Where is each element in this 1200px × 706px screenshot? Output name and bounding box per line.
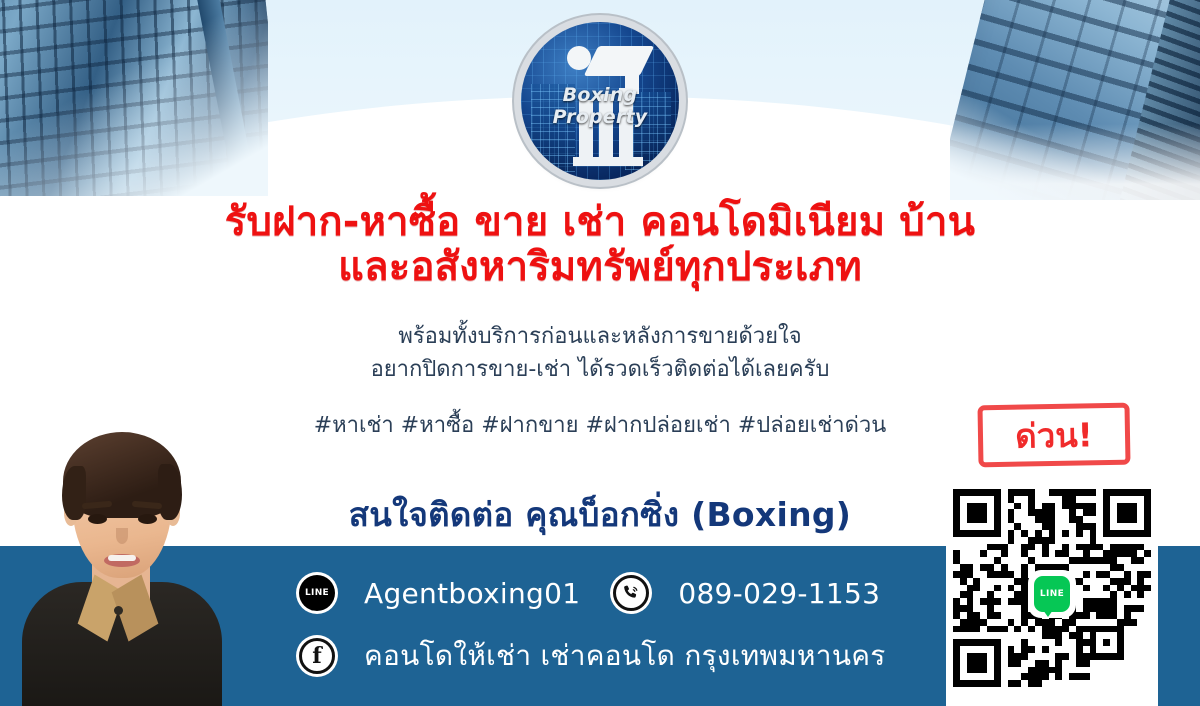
line-qr-code[interactable]: LINE [946, 482, 1158, 706]
contact-row-line-phone: LINE Agentboxing01 089-029-1153 [296, 572, 880, 614]
phone-number-label[interactable]: 089-029-1153 [678, 577, 880, 610]
logo-base-icon [573, 157, 643, 166]
headline-line-1: รับฝาก-หาซื้อ ขาย เช่า คอนโดมิเนียม บ้าน [225, 199, 975, 245]
agent-hair-side-left [62, 466, 86, 520]
headline-line-2: และอสังหาริมทรัพย์ทุกประเภท [0, 245, 1200, 290]
promo-poster: Boxing Property รับฝาก-หาซื้อ ขาย เช่า ค… [0, 0, 1200, 706]
subheadline-line-1: พร้อมทั้งบริการก่อนและหลังการขายด้วยใจ [0, 320, 1200, 353]
line-icon[interactable]: LINE [296, 572, 338, 614]
urgent-stamp-badge: ด่วน! [977, 403, 1130, 468]
agent-shirt-button [114, 606, 123, 615]
agent-nose [116, 528, 128, 544]
line-icon-label: LINE [305, 588, 329, 598]
qr-line-badge-label: LINE [1040, 589, 1064, 599]
agent-eye-right [138, 514, 157, 524]
facebook-page-label[interactable]: คอนโดให้เช่า เช่าคอนโด กรุงเทพมหานคร [364, 634, 886, 678]
agent-teeth [108, 555, 136, 561]
subheadline: พร้อมทั้งบริการก่อนและหลังการขายด้วยใจ อ… [0, 320, 1200, 386]
qr-line-badge-icon: LINE [1030, 572, 1074, 616]
building-left-photo [0, 0, 268, 196]
agent-portrait-photo [18, 414, 224, 706]
building-right-photo [950, 0, 1200, 200]
subheadline-line-2: อยากปิดการขาย-เช่า ได้รวดเร็วติดต่อได้เล… [0, 353, 1200, 386]
logo-brand-text: Boxing Property [521, 84, 679, 128]
boxing-property-logo: Boxing Property [521, 22, 679, 180]
contact-row-facebook: f คอนโดให้เช่า เช่าคอนโด กรุงเทพมหานคร [296, 634, 886, 678]
building-left-fade [0, 0, 268, 196]
agent-eye-left [88, 514, 107, 524]
headline: รับฝาก-หาซื้อ ขาย เช่า คอนโดมิเนียม บ้าน… [0, 200, 1200, 290]
facebook-icon[interactable]: f [296, 635, 338, 677]
line-id-label[interactable]: Agentboxing01 [364, 577, 580, 610]
building-right-fade [950, 0, 1200, 200]
phone-icon[interactable] [610, 572, 652, 614]
